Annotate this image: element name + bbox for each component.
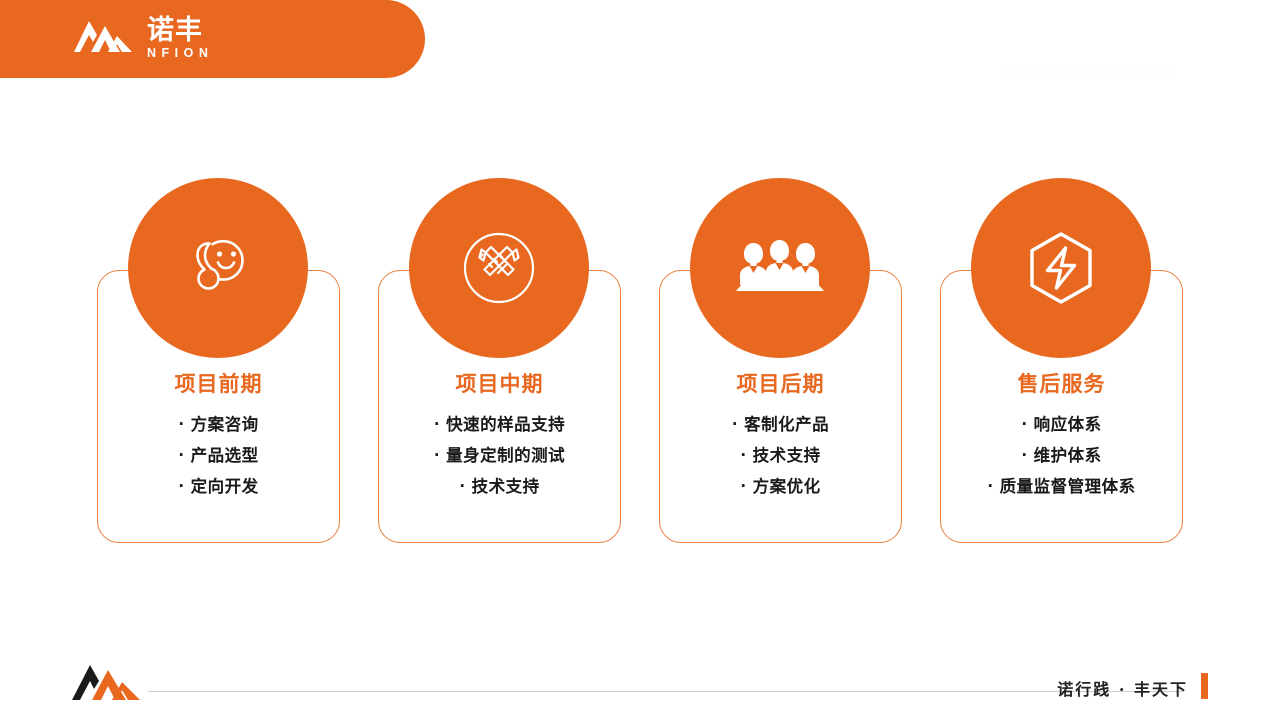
list-item-label: 方案咨询 [191, 415, 259, 434]
list-item-label: 产品选型 [191, 446, 259, 465]
list-item-label: 响应体系 [1034, 415, 1102, 434]
footer-logo [70, 662, 144, 707]
list-item-label: 维护体系 [1034, 446, 1102, 465]
stage-card-body-3: 项目后期 ·客制化产品 ·技术支持 ·方案优化 [659, 372, 902, 502]
list-item: ·快速的样品支持 [378, 409, 621, 440]
stage-card-title-4: 售后服务 [940, 372, 1183, 397]
bullet-dot-icon: · [740, 471, 746, 502]
bullet-dot-icon: · [178, 440, 184, 471]
bullet-dot-icon: · [178, 471, 184, 502]
hexagon-bolt-icon [1021, 228, 1101, 308]
bullet-dot-icon: · [987, 471, 993, 502]
stage-card-title-1: 项目前期 [97, 372, 340, 397]
stage-card-body-4: 售后服务 ·响应体系 ·维护体系 ·质量监督管理体系 [940, 372, 1183, 502]
bullet-dot-icon: · [740, 440, 746, 471]
stage-card-title-3: 项目后期 [659, 372, 902, 397]
list-item: ·产品选型 [97, 440, 340, 471]
list-item-label: 技术支持 [472, 477, 540, 496]
list-item: ·质量监督管理体系 [940, 471, 1183, 502]
stage-card-list-3: ·客制化产品 ·技术支持 ·方案优化 [659, 409, 902, 502]
bullet-dot-icon: · [434, 409, 440, 440]
stage-icon-circle-3 [690, 178, 870, 358]
list-item: ·技术支持 [378, 471, 621, 502]
pencil-ruler-circle-icon [458, 227, 540, 309]
list-item: ·方案优化 [659, 471, 902, 502]
stage-card-body-1: 项目前期 ·方案咨询 ·产品选型 ·定向开发 [97, 372, 340, 502]
service-stage-cards: 项目前期 ·方案咨询 ·产品选型 ·定向开发 项目中期 ·快速的样品支持 ·量身… [0, 0, 1280, 720]
list-item: ·方案咨询 [97, 409, 340, 440]
list-item: ·响应体系 [940, 409, 1183, 440]
list-item: ·维护体系 [940, 440, 1183, 471]
stage-card-list-4: ·响应体系 ·维护体系 ·质量监督管理体系 [940, 409, 1183, 502]
list-item: ·量身定制的测试 [378, 440, 621, 471]
mountain-logo-icon [70, 689, 144, 706]
list-item-label: 质量监督管理体系 [1000, 477, 1136, 496]
list-item: ·技术支持 [659, 440, 902, 471]
bullet-dot-icon: · [178, 409, 184, 440]
list-item-label: 技术支持 [753, 446, 821, 465]
phone-smile-icon [180, 230, 256, 306]
stage-card-body-2: 项目中期 ·快速的样品支持 ·量身定制的测试 ·技术支持 [378, 372, 621, 502]
list-item-label: 定向开发 [191, 477, 259, 496]
stage-card-list-1: ·方案咨询 ·产品选型 ·定向开发 [97, 409, 340, 502]
stage-card-list-2: ·快速的样品支持 ·量身定制的测试 ·技术支持 [378, 409, 621, 502]
bullet-dot-icon: · [1021, 409, 1027, 440]
footer-divider [148, 691, 1183, 692]
team-meeting-icon [732, 233, 828, 303]
stage-icon-circle-1 [128, 178, 308, 358]
stage-icon-circle-4 [971, 178, 1151, 358]
list-item-label: 客制化产品 [744, 415, 829, 434]
bullet-dot-icon: · [732, 409, 738, 440]
list-item-label: 量身定制的测试 [446, 446, 565, 465]
list-item-label: 快速的样品支持 [446, 415, 565, 434]
bullet-dot-icon: · [459, 471, 465, 502]
list-item: ·客制化产品 [659, 409, 902, 440]
footer-tagline: 诺行践 · 丰天下 [1057, 676, 1188, 700]
stage-card-title-2: 项目中期 [378, 372, 621, 397]
list-item: ·定向开发 [97, 471, 340, 502]
bullet-dot-icon: · [434, 440, 440, 471]
list-item-label: 方案优化 [753, 477, 821, 496]
bullet-dot-icon: · [1021, 440, 1027, 471]
stage-icon-circle-2 [409, 178, 589, 358]
footer-accent-bar [1201, 673, 1208, 699]
